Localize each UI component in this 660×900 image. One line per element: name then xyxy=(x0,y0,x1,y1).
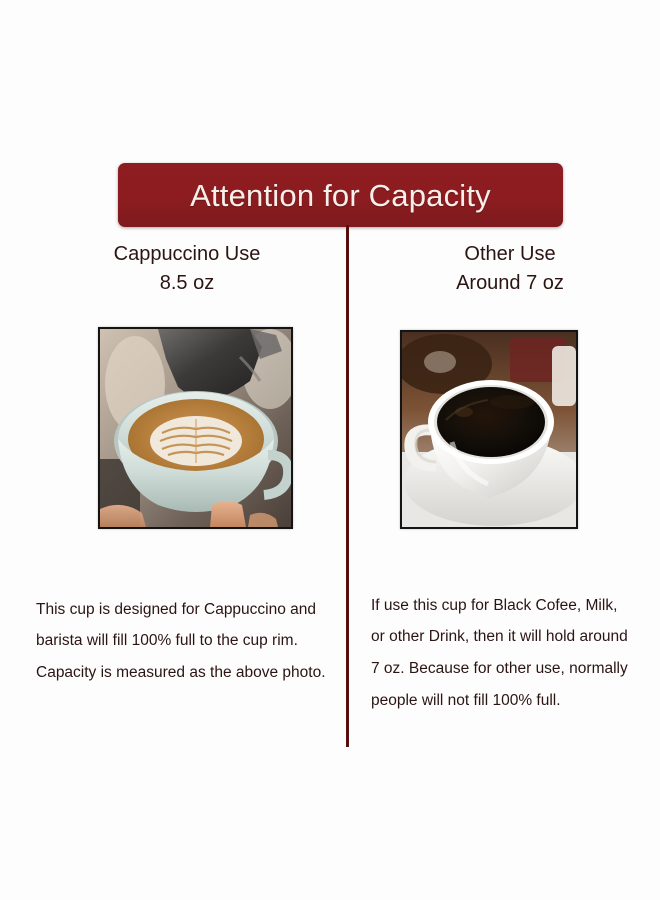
vertical-divider xyxy=(346,225,349,747)
capacity-infographic: Attention for Capacity Cappuccino Use 8.… xyxy=(0,0,660,900)
page-title: Attention for Capacity xyxy=(190,180,491,211)
heading-use-label: Cappuccino Use xyxy=(36,240,338,269)
column-cappuccino: Cappuccino Use 8.5 oz xyxy=(28,240,338,298)
title-banner: Attention for Capacity xyxy=(118,163,563,227)
heading-capacity-value: Around 7 oz xyxy=(364,269,656,298)
heading-use-label: Other Use xyxy=(364,240,656,269)
photo-black-coffee xyxy=(400,330,578,529)
column-heading-other-use: Other Use Around 7 oz xyxy=(364,240,660,298)
photo-cappuccino-latte-art xyxy=(98,327,293,529)
heading-capacity-value: 8.5 oz xyxy=(36,269,338,298)
column-other-use: Other Use Around 7 oz xyxy=(364,240,660,298)
column-heading-cappuccino: Cappuccino Use 8.5 oz xyxy=(28,240,338,298)
description-other-use: If use this cup for Black Cofee, Milk, o… xyxy=(371,590,633,717)
description-cappuccino: This cup is designed for Cappuccino and … xyxy=(36,594,336,689)
